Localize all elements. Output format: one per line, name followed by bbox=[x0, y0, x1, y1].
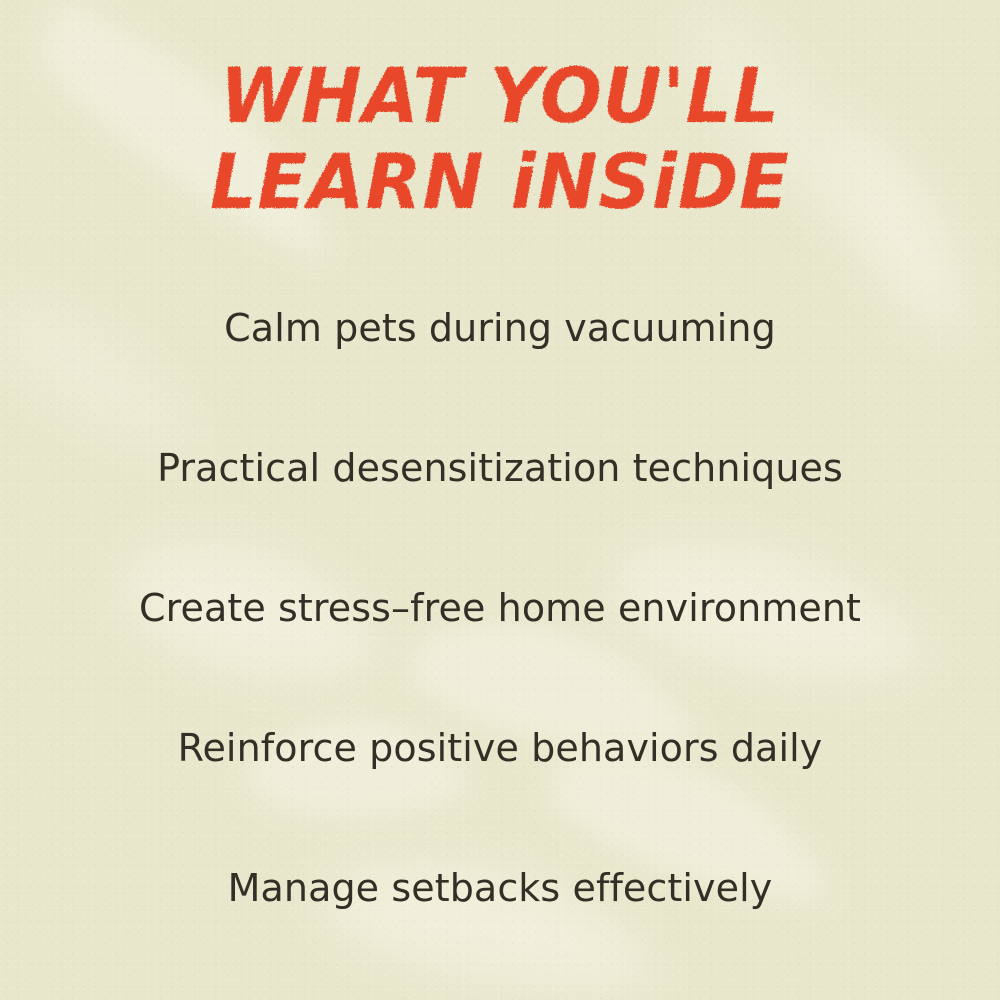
list-item: Calm pets during vacuuming bbox=[0, 258, 1000, 398]
list-item: Create stress–free home environment bbox=[0, 538, 1000, 678]
title-line-1: WHAT YOU'LL bbox=[220, 51, 780, 140]
title-block: WHAT YOU'LL LEARN iNSiDE bbox=[0, 48, 1000, 238]
title-line-2: LEARN iNSiDE bbox=[210, 137, 790, 226]
poster-title: WHAT YOU'LL LEARN iNSiDE bbox=[190, 48, 810, 238]
poster-canvas: WHAT YOU'LL LEARN iNSiDE Calm pets durin… bbox=[0, 0, 1000, 1000]
benefits-list: Calm pets during vacuuming Practical des… bbox=[0, 258, 1000, 958]
list-item: Reinforce positive behaviors daily bbox=[0, 678, 1000, 818]
list-item: Practical desensitization techniques bbox=[0, 398, 1000, 538]
list-item: Manage setbacks effectively bbox=[0, 818, 1000, 958]
